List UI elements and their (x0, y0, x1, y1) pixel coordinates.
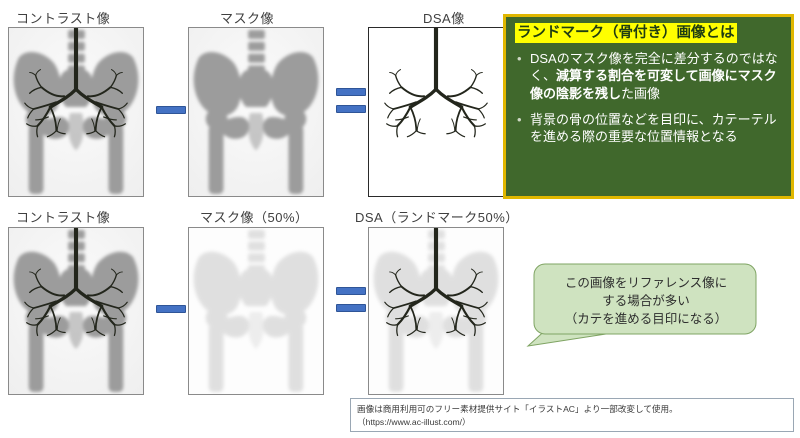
xray-dsa-top-svg (369, 28, 503, 196)
xray-contrast-bottom-svg (9, 228, 143, 394)
infobox-item-2: •背景の骨の位置などを目印に、カテーテルを進める際の重要な位置情報となる (515, 111, 783, 146)
slide-canvas: コントラスト像 マスク像 DSA像 (0, 0, 800, 438)
equals-bar-2 (336, 304, 366, 312)
caption-result-bottom: DSA（ランドマーク50%） (355, 207, 519, 226)
caption-result-top: DSA像 (423, 8, 465, 27)
operator-minus-top (156, 106, 186, 114)
image-contrast-bottom (8, 227, 144, 395)
xray-contrast-top-svg (9, 28, 143, 196)
operator-minus-bottom (156, 305, 186, 313)
infobox-list: •DSAのマスク像を完全に差分するのではなく、減算する割合を可変して画像にマスク… (515, 50, 783, 145)
caption-contrast-bottom: コントラスト像 (16, 207, 110, 226)
caption-mask-bottom: マスク像（50%） (200, 207, 309, 226)
bullet-icon: • (517, 111, 522, 128)
image-mask50-bottom (188, 227, 324, 395)
image-dsa-top (368, 27, 504, 197)
minus-bar (156, 305, 186, 313)
caption-mask-top: マスク像 (220, 8, 274, 27)
infobox-item-2-lead: 背景の骨の位置などを目印に、カテーテルを進める際の重要な位置情報となる (530, 112, 777, 144)
infobox-title: ランドマーク（骨付き）画像とは (515, 23, 737, 43)
xray-dsa-landmark-svg (369, 228, 503, 394)
equals-bar-1 (336, 287, 366, 295)
infobox-item-1-tail: た画像 (621, 86, 660, 101)
infobox-landmark: ランドマーク（骨付き）画像とは •DSAのマスク像を完全に差分するのではなく、減… (503, 14, 794, 199)
image-mask-top (188, 27, 324, 197)
operator-equals-top (336, 88, 366, 113)
caption-contrast-top: コントラスト像 (16, 8, 110, 27)
image-contrast-top (8, 27, 144, 197)
equals-bar-1 (336, 88, 366, 96)
image-dsa-landmark-bottom (368, 227, 504, 395)
minus-bar (156, 106, 186, 114)
xray-mask-top-svg (189, 28, 323, 196)
callout-text: この画像をリファレンス像に する場合が多い （カテを進める目印になる） (542, 274, 750, 328)
operator-equals-bottom (336, 287, 366, 312)
callout-reference-image: この画像をリファレンス像に する場合が多い （カテを進める目印になる） (498, 262, 788, 372)
infobox-item-1: •DSAのマスク像を完全に差分するのではなく、減算する割合を可変して画像にマスク… (515, 50, 783, 102)
footer-credit: 画像は商用利用可のフリー素材提供サイト「イラストAC」より一部改変して使用。 （… (350, 398, 794, 432)
equals-bar-2 (336, 105, 366, 113)
xray-mask50-svg (189, 228, 323, 394)
bullet-icon: • (517, 50, 522, 67)
